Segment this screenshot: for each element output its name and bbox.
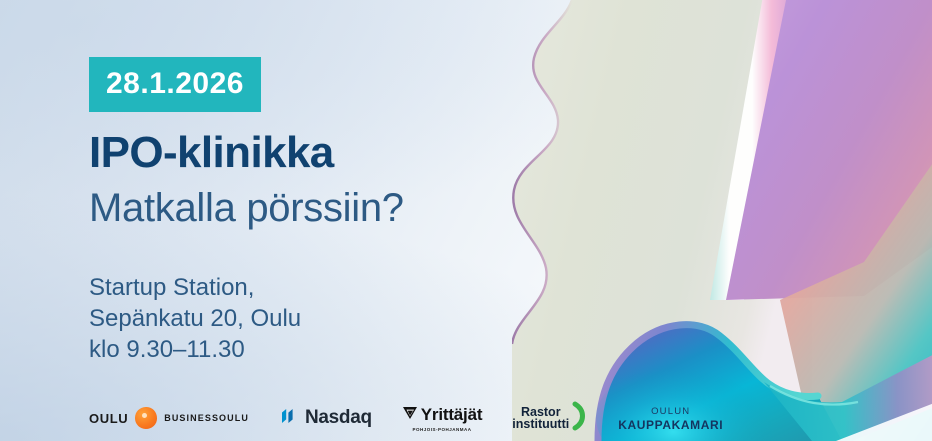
event-time: klo 9.30–11.30 <box>89 334 301 365</box>
logo-businessoulu: OULU BUSINESSOULU <box>89 402 249 434</box>
sponsor-logo-strip: OULU BUSINESSOULU Nasdaq <box>89 395 723 441</box>
businessoulu-oulu-text: OULU <box>89 411 128 426</box>
yrittajat-mark-icon <box>402 405 418 426</box>
logo-oulun-kauppakamari: OULUN KAUPPAKAMARI <box>618 402 723 434</box>
event-address: Sepänkatu 20, Oulu <box>89 303 301 334</box>
event-date-badge: 28.1.2026 <box>89 57 261 112</box>
yrittajat-region-text: POHJOIS-POHJANMAA <box>413 427 472 432</box>
event-banner: 28.1.2026 IPO-klinikka Matkalla pörssiin… <box>0 0 932 441</box>
event-details: Startup Station, Sepänkatu 20, Oulu klo … <box>89 272 301 365</box>
rastor-line2: instituutti <box>512 418 569 430</box>
nasdaq-mark-icon <box>279 406 299 431</box>
iridescent-abstract-graphic <box>512 0 932 441</box>
logo-rastor-instituutti: Rastor instituutti <box>512 402 588 434</box>
event-venue: Startup Station, <box>89 272 301 303</box>
nasdaq-wordmark: Nasdaq <box>305 407 372 429</box>
logo-yrittajat: Yrittäjät POHJOIS-POHJANMAA <box>402 402 483 434</box>
kauppakamari-line2: KAUPPAKAMARI <box>618 419 723 431</box>
page-title: IPO-klinikka <box>89 131 334 175</box>
logo-nasdaq: Nasdaq <box>279 402 372 434</box>
businessoulu-mark-icon <box>135 407 157 429</box>
yrittajat-wordmark: Yrittäjät <box>421 405 483 425</box>
rastor-swoosh-icon <box>572 401 588 436</box>
businessoulu-wordmark: BUSINESSOULU <box>164 413 249 423</box>
banner-content: 28.1.2026 IPO-klinikka Matkalla pörssiin… <box>89 0 559 441</box>
kauppakamari-line1: OULUN <box>651 406 690 418</box>
page-subtitle: Matkalla pörssiin? <box>89 188 404 228</box>
